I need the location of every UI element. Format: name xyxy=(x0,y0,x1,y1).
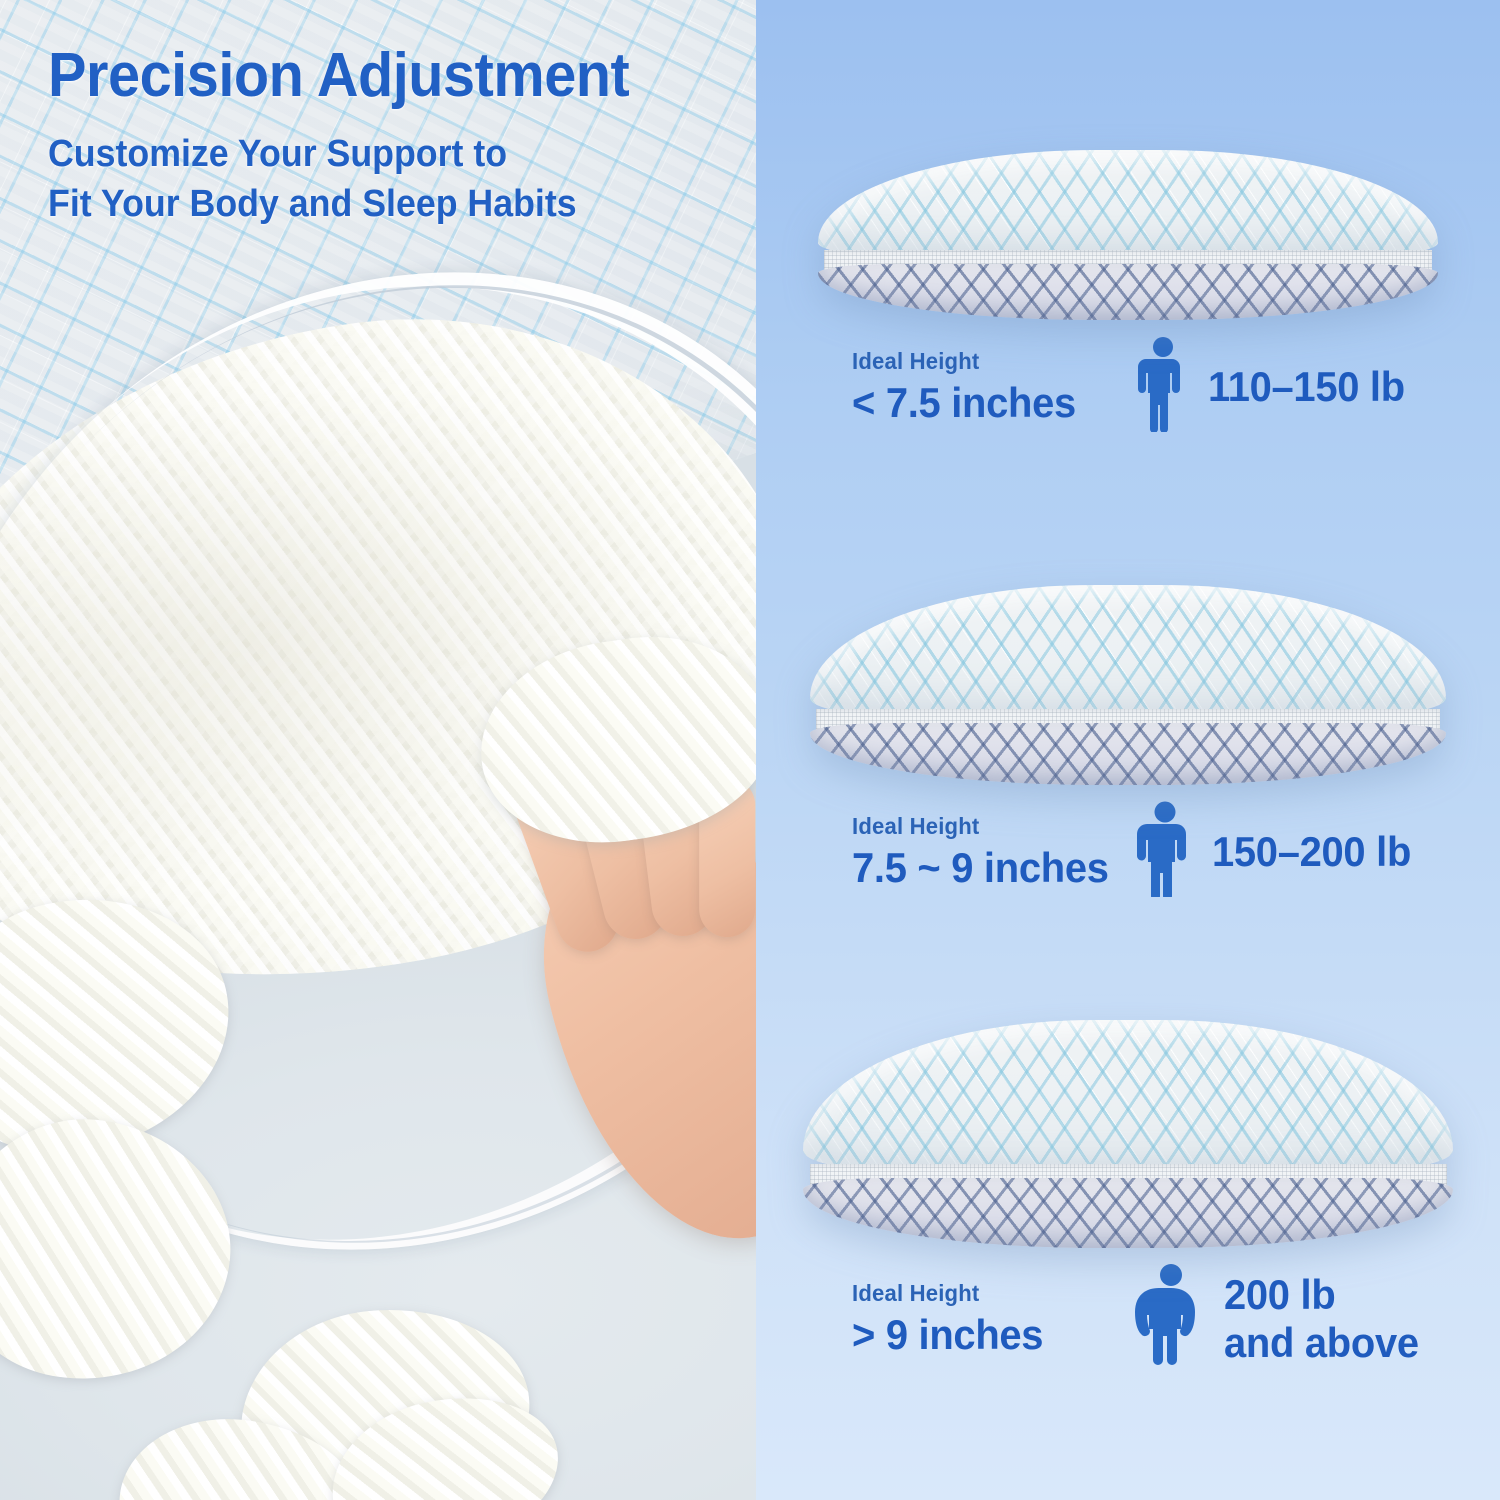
weight-range: 110–150 lb xyxy=(1208,363,1405,410)
tier-caption-low: Ideal Height < 7.5 inches 110–150 lb xyxy=(756,336,1500,437)
weight-range: 150–200 lb xyxy=(1212,828,1411,875)
person-medium-icon xyxy=(1132,801,1198,902)
page-title: Precision Adjustment xyxy=(48,44,629,108)
tier-caption-medium: Ideal Height 7.5 ~ 9 inches 150–200 lb xyxy=(756,801,1500,902)
headline-block: Precision Adjustment Customize Your Supp… xyxy=(48,44,673,229)
pillow-image-low xyxy=(818,150,1438,320)
height-tier-high: Ideal Height > 9 inches 200 lb and above xyxy=(756,1020,1500,1373)
infographic-page: Precision Adjustment Customize Your Supp… xyxy=(0,0,1500,1500)
person-slim-icon xyxy=(1132,336,1194,437)
height-value: > 9 inches xyxy=(852,1314,1114,1356)
page-subtitle: Customize Your Support to Fit Your Body … xyxy=(48,130,636,229)
height-value: < 7.5 inches xyxy=(852,382,1114,424)
height-tier-medium: Ideal Height 7.5 ~ 9 inches 150–200 lb xyxy=(756,585,1500,902)
ideal-height-label: Ideal Height xyxy=(852,815,1117,838)
weight-line-1: 200 lb xyxy=(1224,1271,1419,1318)
weight-line-2: and above xyxy=(1224,1319,1419,1366)
subtitle-line-1: Customize Your Support to xyxy=(48,130,636,179)
ideal-height-label: Ideal Height xyxy=(852,1282,1117,1305)
tier-caption-high: Ideal Height > 9 inches 200 lb and above xyxy=(756,1264,1500,1373)
subtitle-line-2: Fit Your Body and Sleep Habits xyxy=(48,180,636,229)
height-tier-low: Ideal Height < 7.5 inches 110–150 lb xyxy=(756,150,1500,437)
product-photo-panel: Precision Adjustment Customize Your Supp… xyxy=(0,0,756,1500)
pillow-image-medium xyxy=(810,585,1446,785)
pillow-image-high xyxy=(803,1020,1453,1248)
weight-line-1: 110–150 lb xyxy=(1208,363,1405,410)
height-value: 7.5 ~ 9 inches xyxy=(852,847,1114,889)
weight-range: 200 lb and above xyxy=(1224,1271,1419,1365)
person-heavy-icon xyxy=(1132,1264,1210,1373)
weight-line-1: 150–200 lb xyxy=(1212,828,1411,875)
height-guide-panel: Ideal Height < 7.5 inches 110–150 lb xyxy=(756,0,1500,1500)
ideal-height-label: Ideal Height xyxy=(852,350,1117,373)
